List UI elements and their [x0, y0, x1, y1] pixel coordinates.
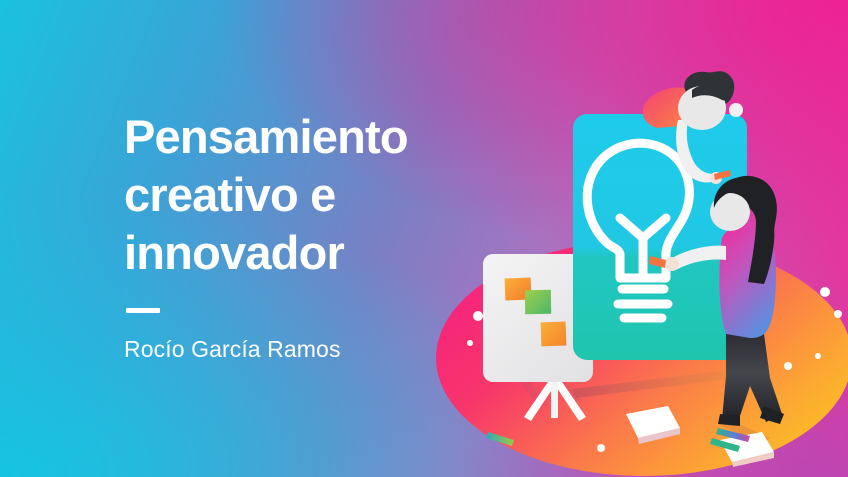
title-divider — [126, 308, 160, 313]
decorative-dot-6 — [815, 353, 821, 359]
title-line-1: Pensamiento — [124, 108, 464, 166]
decorative-dot-5 — [784, 362, 792, 370]
author-name: Rocío García Ramos — [124, 335, 464, 363]
sticky-note-green — [525, 290, 551, 314]
decorative-dot-2 — [467, 340, 473, 346]
sticky-note-orange-bottom — [541, 322, 567, 347]
decorative-dot-1 — [473, 311, 483, 321]
decorative-dot-7 — [597, 444, 605, 452]
creative-thinking-lightbulb-illustration — [430, 46, 848, 477]
person-right-shoe-left — [718, 414, 740, 426]
decorative-dot-4 — [834, 310, 842, 318]
person-right-hand — [665, 257, 679, 271]
title-line-3: innovador — [124, 224, 464, 282]
page-title: Pensamiento creativo e innovador — [124, 108, 464, 282]
decorative-dot-3 — [820, 287, 830, 297]
lightbulb-base-coils — [618, 289, 668, 318]
title-text-block: Pensamiento creativo e innovador Rocío G… — [124, 108, 464, 363]
presentation-slide: Pensamiento creativo e innovador Rocío G… — [0, 0, 848, 477]
person-top-hair-tuft — [729, 103, 743, 117]
title-line-2: creativo e — [124, 166, 464, 224]
